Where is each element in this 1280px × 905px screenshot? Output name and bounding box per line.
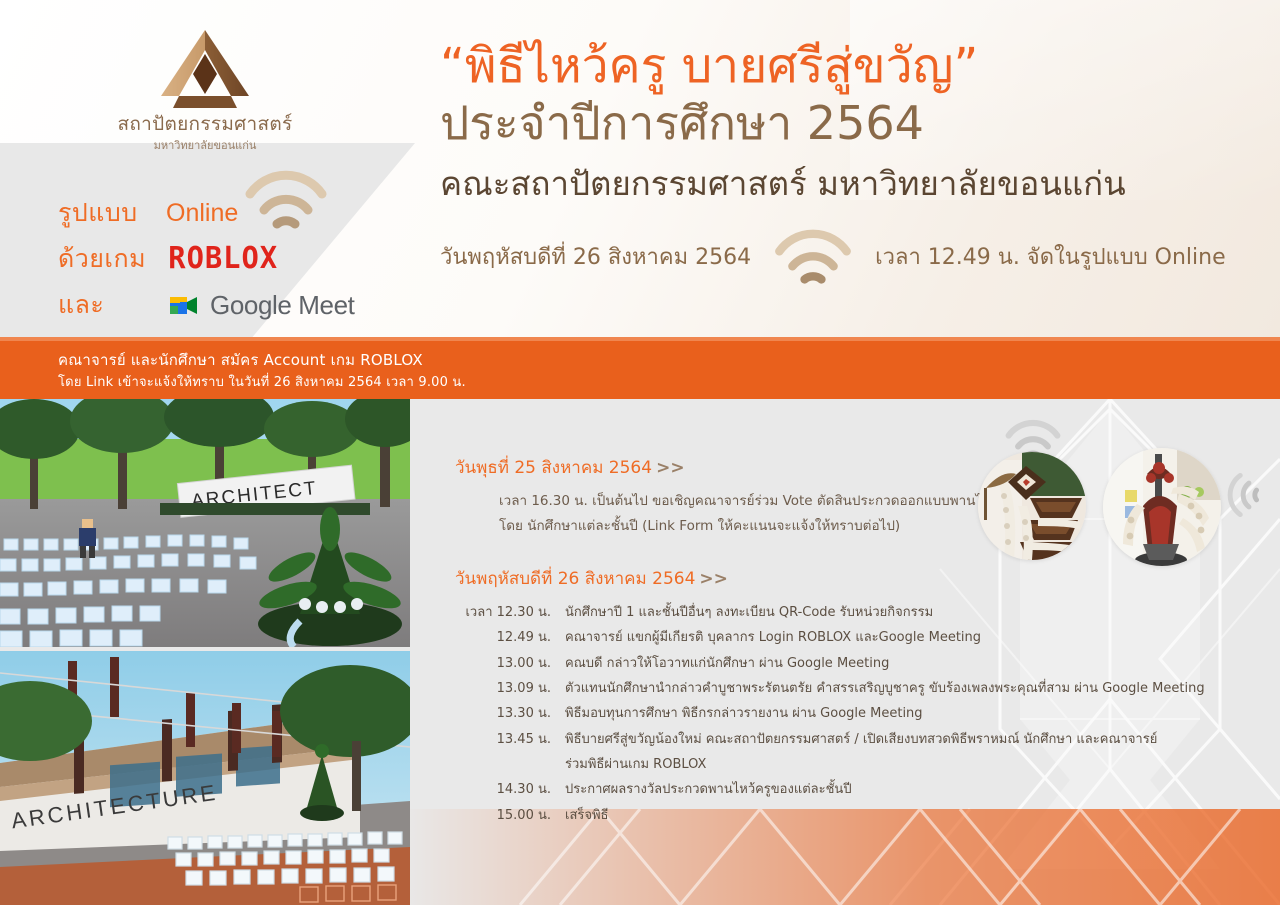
header-datetime-row: วันพฤหัสบดีที่ 26 สิงหาคม 2564 เวลา 12.4…: [440, 227, 1240, 285]
format-row-googlemeet: และ Google Meet: [58, 282, 388, 328]
venue-render-top: ARCHITECT: [0, 399, 410, 647]
row-time: 13.00 น.: [455, 651, 565, 676]
logo-faculty-name: สถาปัตยกรรมศาสตร์: [105, 114, 305, 135]
row-desc: นักศึกษาปี 1 และชั้นปีอื่นๆ ลงทะเบียน QR…: [565, 600, 1215, 625]
row-time: 13.09 น.: [455, 676, 565, 701]
day2-date: วันพฤหัสบดีที่ 26 สิงหาคม 2564: [455, 569, 695, 589]
schedule-row: 13.09 น. ตัวแทนนักศึกษานำกล่าวคำบูชาพระร…: [455, 676, 1215, 701]
logo-university-name: มหาวิทยาลัยขอนแก่น: [105, 136, 305, 154]
row-time: เวลา 12.30 น.: [455, 600, 565, 625]
schedule-row: 12.49 น. คณาจารย์ แขกผู้มีเกียรติ บุคลาก…: [455, 625, 1215, 650]
header-title-block: “พิธีไหว้ครู บายศรีสู่ขวัญ” ประจำปีการศึ…: [440, 40, 1240, 285]
poster-body: ARCHITECT: [0, 399, 1280, 905]
row-time: 12.49 น.: [455, 625, 565, 650]
schedule-day2: วันพฤหัสบดีที่ 26 สิงหาคม 2564>> เวลา 12…: [455, 565, 1215, 828]
day2-heading: วันพฤหัสบดีที่ 26 สิงหาคม 2564>>: [455, 565, 1215, 592]
row-time: 13.45 น.: [455, 727, 565, 778]
baisri-tray-image: [978, 452, 1086, 560]
roblox-logo-icon: ROBLOX: [168, 244, 278, 274]
venue-render-bottom: ARCHITECTURE: [0, 651, 410, 905]
row-time: 13.30 น.: [455, 701, 565, 726]
format-label-roblox: ด้วยเกม: [58, 239, 166, 279]
row-desc: คณบดี กล่าวให้โอวาทแก่นักศึกษา ผ่าน Goog…: [565, 651, 1215, 676]
day1-heading: วันพุธที่ 25 สิงหาคม 2564>>: [455, 454, 1215, 481]
row-desc: ตัวแทนนักศึกษานำกล่าวคำบูชาพระรัตนตรัย ค…: [565, 676, 1215, 701]
schedule-row: 15.00 น. เสร็จพิธี: [455, 803, 1215, 828]
row-desc: พิธีบายศรีสู่ขวัญน้องใหม่ คณะสถาปัตยกรรม…: [565, 732, 1157, 747]
schedule-row: 13.45 น. พิธีบายศรีสู่ขวัญน้องใหม่ คณะสถ…: [455, 727, 1215, 778]
poster-canvas: สถาปัตยกรรมศาสตร์ มหาวิทยาลัยขอนแก่น รูป…: [0, 0, 1280, 905]
row-desc: คณาจารย์ แขกผู้มีเกียรติ บุคลากร Login R…: [565, 625, 1215, 650]
format-rows: รูปแบบ Online ด้วยเกม ROBLOX และ: [58, 190, 388, 328]
poster-subtitle-year: ประจำปีการศึกษา 2564: [440, 97, 1240, 150]
header-date: วันพฤหัสบดีที่ 26 สิงหาคม 2564: [440, 239, 751, 274]
baisri-offering-image: [1103, 448, 1221, 566]
day1-date: วันพุธที่ 25 สิงหาคม 2564: [455, 458, 652, 478]
schedule-spacer: [455, 539, 1215, 565]
row-desc-continued: ร่วมพิธีผ่านเกม ROBLOX: [565, 752, 1215, 777]
format-value-online: Online: [166, 199, 238, 228]
row-desc: พิธีมอบทุนการศึกษา พิธีกรกล่าวรายงาน ผ่า…: [565, 701, 1215, 726]
roblox-venue-building-render: ARCHITECTURE: [0, 651, 410, 905]
row-desc: เสร็จพิธี: [565, 803, 1215, 828]
row-time: 15.00 น.: [455, 803, 565, 828]
schedule-row: 13.30 น. พิธีมอบทุนการศึกษา พิธีกรกล่าวร…: [455, 701, 1215, 726]
faculty-logo: สถาปัตยกรรมศาสตร์ มหาวิทยาลัยขอนแก่น: [105, 28, 305, 154]
poster-title: “พิธีไหว้ครู บายศรีสู่ขวัญ”: [440, 40, 1240, 93]
row-desc: ประกาศผลรางวัลประกวดพานไหว้ครูของแต่ละชั…: [565, 777, 1215, 802]
google-meet-icon: [166, 292, 200, 319]
schedule: วันพุธที่ 25 สิงหาคม 2564>> เวลา 16.30 น…: [455, 454, 1215, 828]
format-row-roblox: ด้วยเกม ROBLOX: [58, 236, 388, 282]
wifi-icon: [1226, 470, 1260, 520]
format-label-and: และ: [58, 285, 166, 325]
banner-line-2: โดย Link เข้าจะแจ้งให้ทราบ ในวันที่ 26 ส…: [58, 371, 466, 392]
header-time: เวลา 12.49 น. จัดในรูปแบบ Online: [875, 239, 1226, 274]
triangle-logo-icon: [157, 28, 253, 110]
schedule-row: เวลา 12.30 น. นักศึกษาปี 1 และชั้นปีอื่น…: [455, 600, 1215, 625]
wifi-icon: [769, 227, 857, 285]
day2-arrows: >>: [699, 569, 728, 589]
poster-faculty-line: คณะสถาปัตยกรรมศาสตร์ มหาวิทยาลัยขอนแก่น: [440, 164, 1240, 204]
schedule-row: 14.30 น. ประกาศผลรางวัลประกวดพานไหว้ครูข…: [455, 777, 1215, 802]
day1-arrows: >>: [656, 458, 685, 478]
banner-line-1: คณาจารย์ และนักศึกษา สมัคร Account เกม R…: [58, 348, 423, 372]
row-desc-wrap: พิธีบายศรีสู่ขวัญน้องใหม่ คณะสถาปัตยกรรม…: [565, 727, 1215, 778]
roblox-venue-outdoor-render: ARCHITECT: [0, 399, 410, 647]
registration-banner: คณาจารย์ และนักศึกษา สมัคร Account เกม R…: [0, 341, 1280, 399]
format-label-online: รูปแบบ: [58, 193, 166, 233]
schedule-day1: วันพุธที่ 25 สิงหาคม 2564>> เวลา 16.30 น…: [455, 454, 1215, 539]
google-meet-label: Google Meet: [210, 290, 354, 321]
schedule-row: 13.00 น. คณบดี กล่าวให้โอวาทแก่นักศึกษา …: [455, 651, 1215, 676]
baisri-offering-photo: [1103, 448, 1221, 566]
poster-header: สถาปัตยกรรมศาสตร์ มหาวิทยาลัยขอนแก่น รูป…: [0, 0, 1280, 340]
format-row-online: รูปแบบ Online: [58, 190, 388, 236]
row-time: 14.30 น.: [455, 777, 565, 802]
baisri-tray-photo: [978, 452, 1086, 560]
